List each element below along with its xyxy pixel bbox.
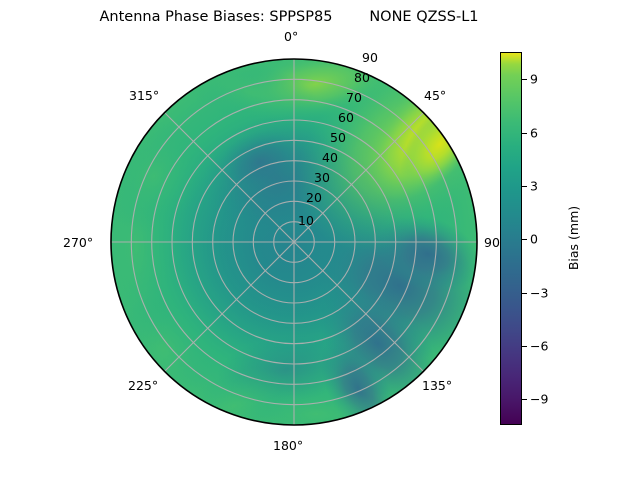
colorbar-tick-mark bbox=[522, 239, 527, 240]
matplotlib-figure: Antenna Phase Biases: SPPSP85 NONE QZSS-… bbox=[0, 0, 640, 480]
angular-tick-225: 225° bbox=[128, 378, 158, 393]
colorbar-tick-6: 6 bbox=[530, 125, 538, 140]
colorbar-tick-mark bbox=[522, 346, 527, 347]
colorbar: 9 6 3 0 −3 −6 −9 bbox=[500, 52, 522, 425]
colorbar-tick-neg3: −3 bbox=[530, 285, 548, 300]
angular-tick-180: 180° bbox=[273, 438, 303, 453]
radial-tick-30: 30 bbox=[314, 170, 330, 185]
polar-contour-plot bbox=[110, 58, 478, 426]
colorbar-tick-neg6: −6 bbox=[530, 338, 548, 353]
colorbar-gradient bbox=[500, 52, 522, 425]
page-title: Antenna Phase Biases: SPPSP85 NONE QZSS-… bbox=[0, 9, 578, 25]
colorbar-tick-mark bbox=[522, 79, 527, 80]
angular-tick-0: 0° bbox=[284, 29, 298, 44]
colorbar-axis-label: Bias (mm) bbox=[566, 206, 581, 270]
angular-tick-315: 315° bbox=[129, 88, 159, 103]
radial-tick-50: 50 bbox=[330, 130, 346, 145]
colorbar-tick-mark bbox=[522, 399, 527, 400]
colorbar-tick-9: 9 bbox=[530, 71, 538, 86]
colorbar-tick-mark bbox=[522, 293, 527, 294]
radial-tick-70: 70 bbox=[346, 90, 362, 105]
radial-tick-90: 90 bbox=[362, 50, 378, 65]
colorbar-tick-3: 3 bbox=[530, 178, 538, 193]
colorbar-tick-mark bbox=[522, 133, 527, 134]
radial-tick-80: 80 bbox=[354, 70, 370, 85]
radial-tick-60: 60 bbox=[338, 110, 354, 125]
angular-tick-135: 135° bbox=[422, 378, 452, 393]
radial-tick-10: 10 bbox=[298, 213, 314, 228]
colorbar-tick-mark bbox=[522, 186, 527, 187]
polar-grid bbox=[111, 59, 477, 425]
colorbar-swatches bbox=[501, 53, 521, 424]
colorbar-tick-0: 0 bbox=[530, 232, 538, 247]
angular-tick-270: 270° bbox=[63, 235, 93, 250]
polar-axes: 10 20 30 40 50 60 70 80 90 bbox=[110, 58, 478, 426]
angular-tick-90: 90 bbox=[484, 235, 500, 250]
radial-tick-20: 20 bbox=[306, 190, 322, 205]
angular-tick-45: 45° bbox=[424, 88, 446, 103]
radial-tick-40: 40 bbox=[322, 150, 338, 165]
colorbar-tick-neg9: −9 bbox=[530, 392, 548, 407]
